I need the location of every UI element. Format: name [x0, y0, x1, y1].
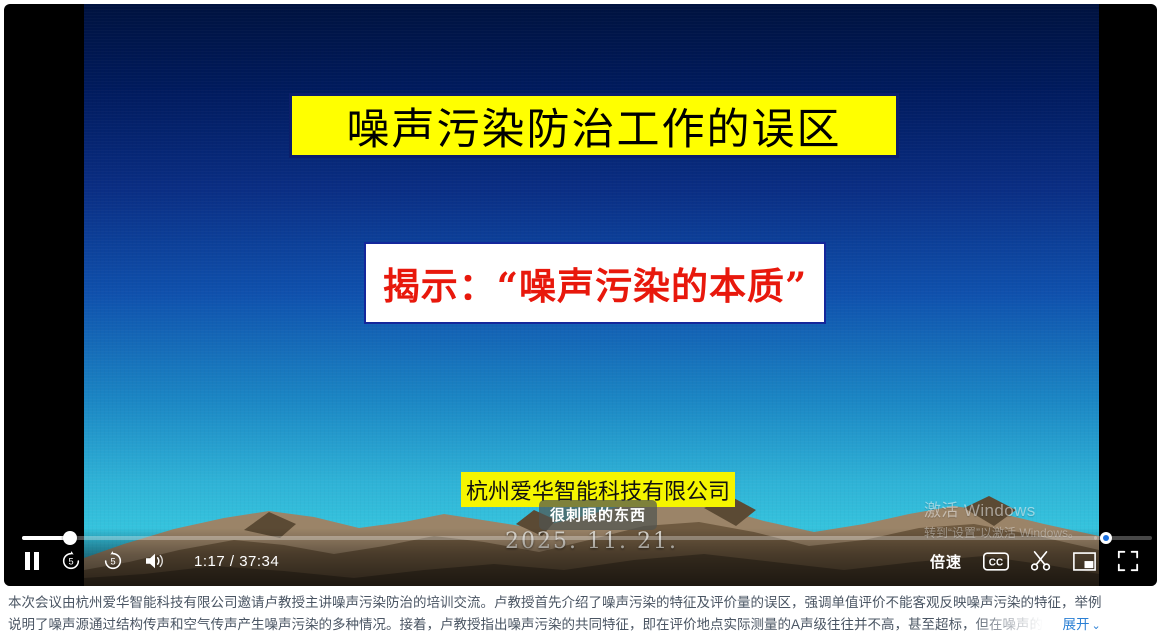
progress-buffer-track [22, 536, 1097, 540]
pause-icon [24, 552, 40, 570]
rewind-5-icon: 5 [60, 550, 82, 572]
video-frame[interactable]: 噪声污染防治工作的误区 揭示：“噪声污染的本质” 杭州爱华智能科技有限公司 很刺… [84, 4, 1099, 586]
slide-title-box: 噪声污染防治工作的误区 [289, 93, 899, 158]
player-left-controls[interactable]: 5 5 1:17 / 37:34 [24, 550, 279, 572]
playback-speed-button[interactable]: 倍速 [930, 551, 962, 572]
volume-icon [144, 552, 166, 570]
clip-button[interactable] [1030, 550, 1052, 572]
fullscreen-button[interactable] [1117, 550, 1139, 572]
volume-slider[interactable] [1094, 530, 1152, 546]
rewind-5-button[interactable]: 5 [60, 550, 82, 572]
player-control-bar[interactable]: 5 5 1:17 / 37:34 爱华智能在共享屏幕 [4, 528, 1157, 586]
time-display: 1:17 / 37:34 [194, 553, 279, 570]
video-player[interactable]: 噪声污染防治工作的误区 揭示：“噪声污染的本质” 杭州爱华智能科技有限公司 很刺… [4, 4, 1157, 586]
volume-button[interactable] [144, 552, 166, 570]
video-description: 本次会议由杭州爱华智能科技有限公司邀请卢教授主讲噪声污染防治的培训交流。卢教授首… [0, 592, 1161, 637]
svg-text:5: 5 [110, 557, 115, 567]
player-right-controls[interactable]: 倍速 CC [930, 550, 1139, 572]
picture-in-picture-button[interactable] [1073, 552, 1096, 571]
svg-text:CC: CC [989, 557, 1003, 568]
pip-icon [1073, 552, 1096, 571]
progress-handle[interactable] [63, 531, 77, 545]
slide-subtitle-text: 揭示：“噪声污染的本质” [383, 256, 808, 310]
chevron-down-icon: ⌄ [1092, 620, 1101, 632]
description-line-2: 说明了噪声源通过结构传声和空气传声产生噪声污染的多种情况。接着，卢教授指出噪声污… [8, 614, 1057, 636]
captions-button[interactable]: CC [983, 552, 1009, 571]
danmaku-comment: 很刺眼的东西 [539, 500, 657, 530]
scissors-icon [1030, 550, 1052, 572]
expand-label: 展开 [1063, 617, 1090, 632]
forward-5-icon: 5 [102, 550, 124, 572]
slide-title-text: 噪声污染防治工作的误区 [347, 95, 842, 157]
forward-5-button[interactable]: 5 [102, 550, 124, 572]
description-line-1: 本次会议由杭州爱华智能科技有限公司邀请卢教授主讲噪声污染防治的培训交流。卢教授首… [8, 592, 1153, 614]
expand-description-button[interactable]: 展开⌄ [1063, 614, 1101, 637]
slide-subtitle-box: 揭示：“噪声污染的本质” [364, 242, 826, 324]
svg-text:5: 5 [68, 557, 73, 567]
pause-button[interactable] [24, 552, 40, 570]
progress-bar[interactable] [22, 530, 1097, 546]
volume-slider-handle[interactable] [1100, 532, 1112, 544]
fullscreen-icon [1117, 550, 1139, 572]
description-line-2-row: 说明了噪声源通过结构传声和空气传声产生噪声污染的多种情况。接着，卢教授指出噪声污… [8, 614, 1153, 637]
cc-icon: CC [983, 552, 1009, 571]
